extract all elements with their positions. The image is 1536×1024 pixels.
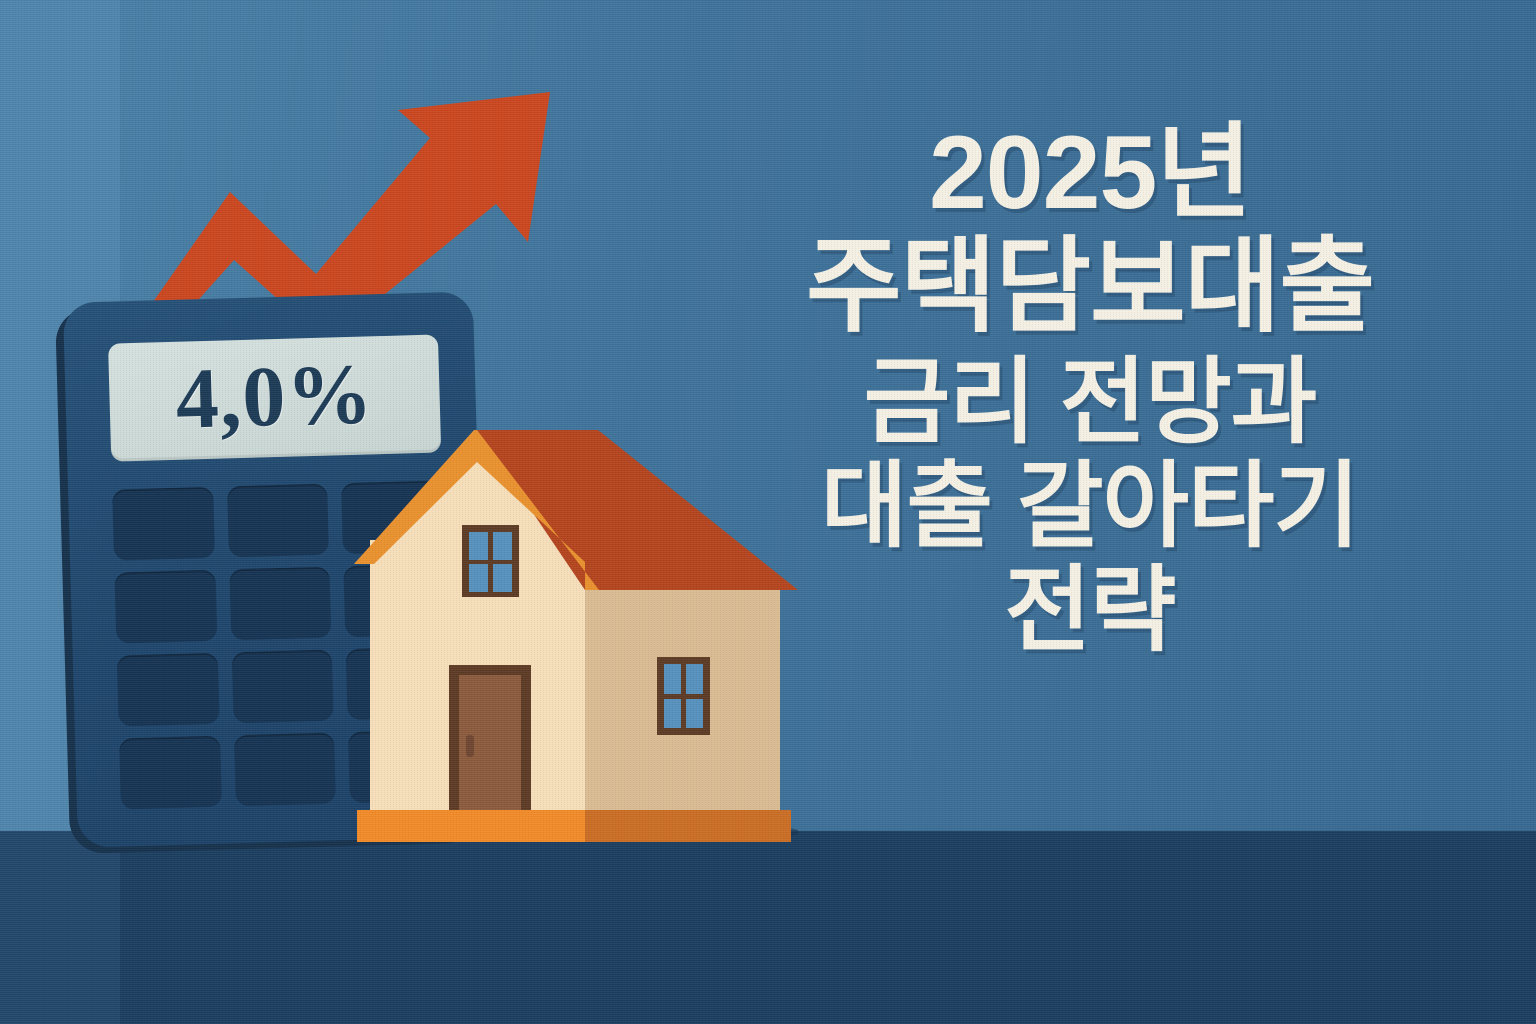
calculator-key[interactable] [119,736,222,810]
headline-line-2: 주택담보대출 [806,234,1374,340]
headline-line-3: 금리 전망과 [864,354,1317,450]
calculator-display-value: 4,0% [175,350,375,441]
calculator-key[interactable] [231,650,334,724]
house-base-front [357,810,585,842]
headline-line-1: 2025년 [929,120,1251,226]
calculator-key[interactable] [117,653,220,727]
house-window-front [462,525,519,597]
headline-line-4: 대출 갈아타기 [821,458,1359,554]
headline-line-5: 전략 [1005,562,1176,658]
calculator-key[interactable] [234,733,337,807]
calculator-key[interactable] [114,570,217,644]
calculator-key[interactable] [112,487,215,561]
house-door [449,665,531,812]
calculator-key[interactable] [229,567,332,641]
poster-canvas: 4,0% [0,0,1536,1024]
headline-block: 2025년 주택담보대출 금리 전망과 대출 갈아타기 전략 [670,120,1510,920]
calculator-key[interactable] [227,484,330,558]
background-ground-left-band [0,831,120,1024]
